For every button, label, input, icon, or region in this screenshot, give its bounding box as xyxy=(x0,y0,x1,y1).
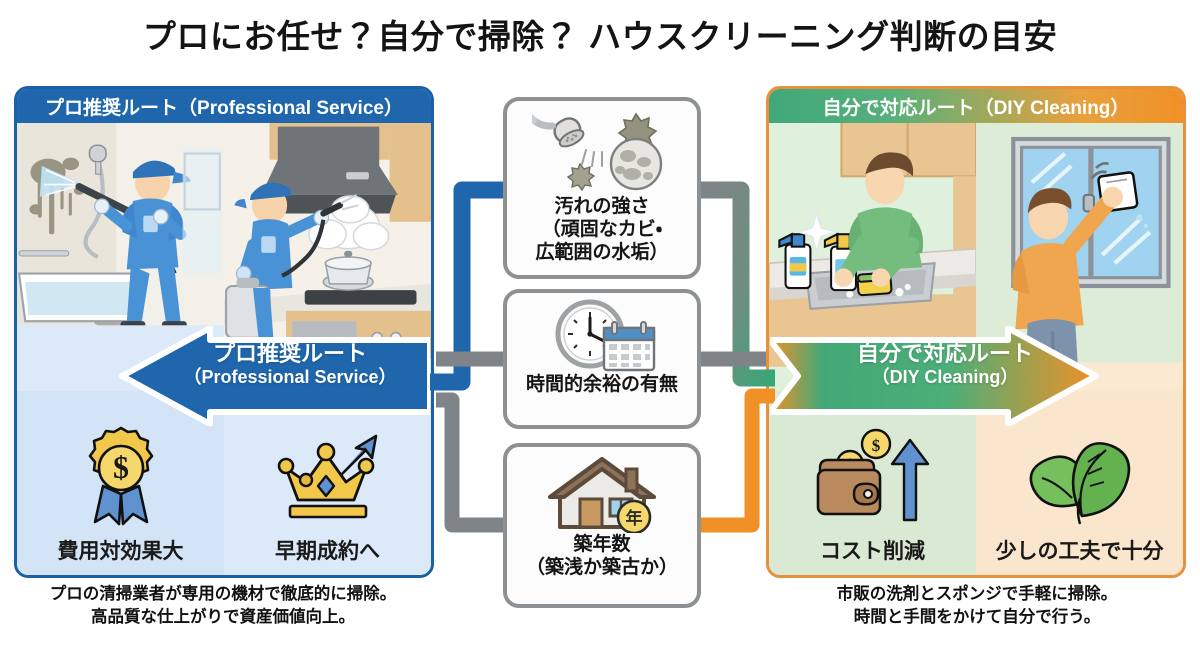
criteria-label-line1: 汚れの強さ xyxy=(554,196,649,217)
criteria-label-line3: 広範囲の水垢） xyxy=(535,242,668,263)
criteria-label-line2: （築浅か築古か） xyxy=(526,557,678,578)
criteria-card-label: 築年数 （築浅か築古か） xyxy=(526,533,678,579)
criteria-card-dirt-severity: 汚れの強さ （頑固なカビ・ 広範囲の水垢） xyxy=(503,97,701,279)
showerhead-mold-scale-icon xyxy=(532,109,672,195)
criteria-label-line2: （頑固なカビ・ xyxy=(542,219,662,240)
clock-calendar-icon xyxy=(542,299,662,373)
house-years-icon: 年 xyxy=(542,453,662,533)
svg-text:年: 年 xyxy=(626,508,643,528)
criteria-card-label: 時間的余裕の有無 xyxy=(526,373,678,396)
criteria-label-line1: 築年数 xyxy=(573,534,630,555)
criteria-card-building-age: 年 築年数 （築浅か築古か） xyxy=(503,443,701,608)
professional-route-arrow xyxy=(118,326,430,426)
criteria-card-time-availability: 時間的余裕の有無 xyxy=(503,289,701,429)
criteria-label-line1: 時間的余裕の有無 xyxy=(526,374,678,395)
criteria-card-label: 汚れの強さ （頑固なカビ・ 広範囲の水垢） xyxy=(535,195,668,265)
diy-route-arrow xyxy=(770,326,1100,426)
